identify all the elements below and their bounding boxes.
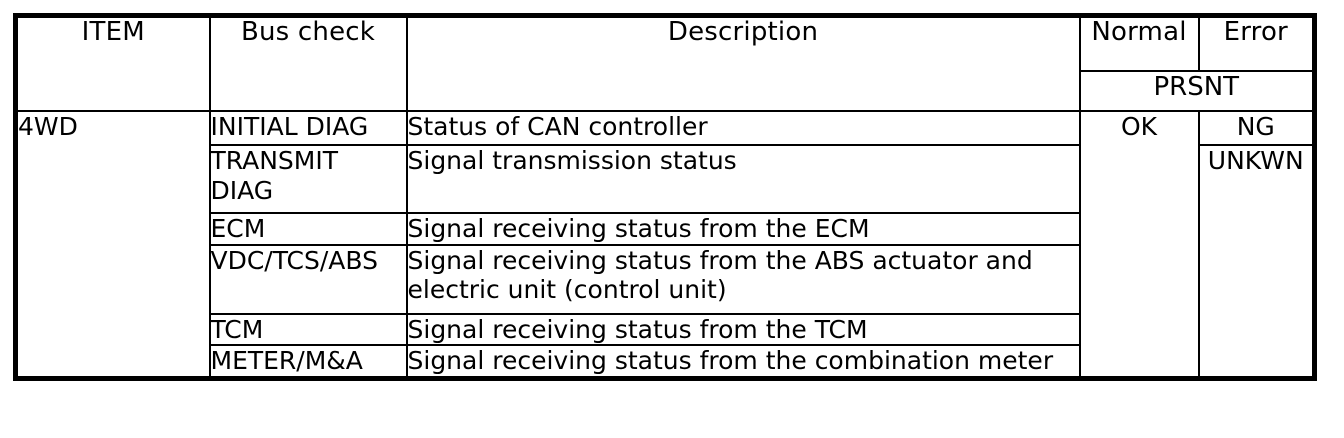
description-vdc-tcs-abs: Signal receiving status from the ABS act… [407,245,1080,314]
table-body: 4WD INITIAL DIAG Status of CAN controlle… [16,111,1315,378]
column-header-bus-check: Bus check [210,16,407,112]
bus-check-ecm: ECM [210,213,407,245]
description-ecm: Signal receiving status from the ECM [407,213,1080,245]
bus-check-vdc-tcs-abs: VDC/TCS/ABS [210,245,407,314]
description-meter-mna: Signal receiving status from the combina… [407,345,1080,378]
column-header-error: Error [1199,16,1315,72]
bus-check-meter-mna: METER/M&A [210,345,407,378]
item-group-4wd: 4WD [16,111,210,378]
error-value-unknown: UNKWN [1199,145,1315,378]
column-header-normal: Normal [1080,16,1199,72]
bus-check-tcm: TCM [210,314,407,346]
normal-value: OK [1080,111,1199,378]
table-header: ITEM Bus check Description Normal Error … [16,16,1315,112]
bus-check-initial-diag: INITIAL DIAG [210,111,407,145]
subheader-prsnt: PRSNT [1080,71,1315,111]
page-root: ITEM Bus check Description Normal Error … [0,0,1344,438]
description-transmit-diag: Signal transmission status [407,145,1080,213]
header-row-main: ITEM Bus check Description Normal Error [16,16,1315,72]
bus-check-transmit-diag: TRANSMIT DIAG [210,145,407,213]
column-header-item: ITEM [16,16,210,112]
column-header-description: Description [407,16,1080,112]
can-diagnosis-table: ITEM Bus check Description Normal Error … [13,13,1317,381]
description-initial-diag: Status of CAN controller [407,111,1080,145]
table-row: 4WD INITIAL DIAG Status of CAN controlle… [16,111,1315,145]
error-value-initial-diag: NG [1199,111,1315,145]
description-tcm: Signal receiving status from the TCM [407,314,1080,346]
